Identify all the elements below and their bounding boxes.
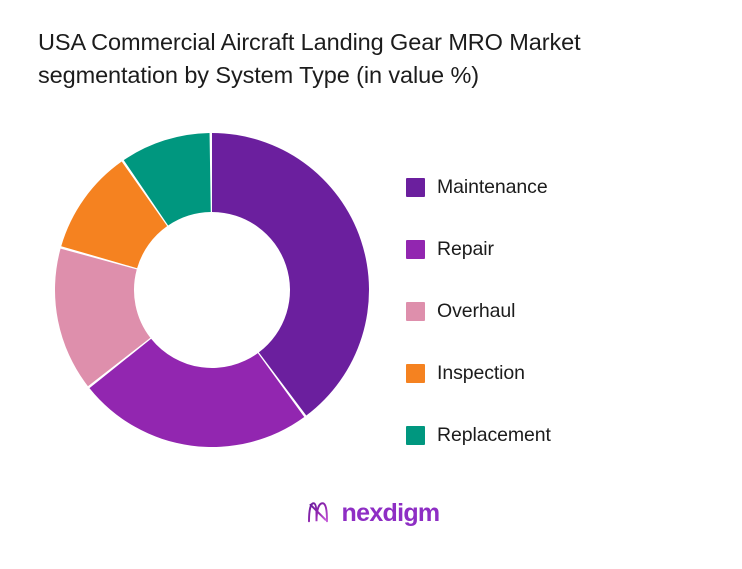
legend-swatch-overhaul-icon — [406, 302, 425, 321]
legend-swatch-repair-icon — [406, 240, 425, 259]
nexdigm-wave-mark-icon — [303, 498, 333, 528]
chart-legend: MaintenanceRepairOverhaulInspectionRepla… — [406, 156, 656, 466]
donut-chart — [54, 132, 370, 448]
legend-item-label: Repair — [437, 238, 494, 260]
page-title: USA Commercial Aircraft Landing Gear MRO… — [38, 26, 698, 92]
legend-swatch-replacement-icon — [406, 426, 425, 445]
legend-item-overhaul[interactable]: Overhaul — [406, 280, 656, 342]
legend-item-inspection[interactable]: Inspection — [406, 342, 656, 404]
legend-swatch-inspection-icon — [406, 364, 425, 383]
chart-page: USA Commercial Aircraft Landing Gear MRO… — [0, 0, 742, 569]
legend-item-label: Replacement — [437, 424, 551, 446]
legend-swatch-maintenance-icon — [406, 178, 425, 197]
legend-item-repair[interactable]: Repair — [406, 218, 656, 280]
legend-item-label: Overhaul — [437, 300, 515, 322]
legend-item-replacement[interactable]: Replacement — [406, 404, 656, 466]
donut-slice-group — [55, 133, 369, 447]
legend-item-label: Maintenance — [437, 176, 548, 198]
legend-item-label: Inspection — [437, 362, 525, 384]
legend-item-maintenance[interactable]: Maintenance — [406, 156, 656, 218]
donut-chart-svg — [54, 132, 370, 448]
brand-logo: nexdigm — [0, 498, 742, 528]
brand-wordmark: nexdigm — [342, 498, 440, 528]
